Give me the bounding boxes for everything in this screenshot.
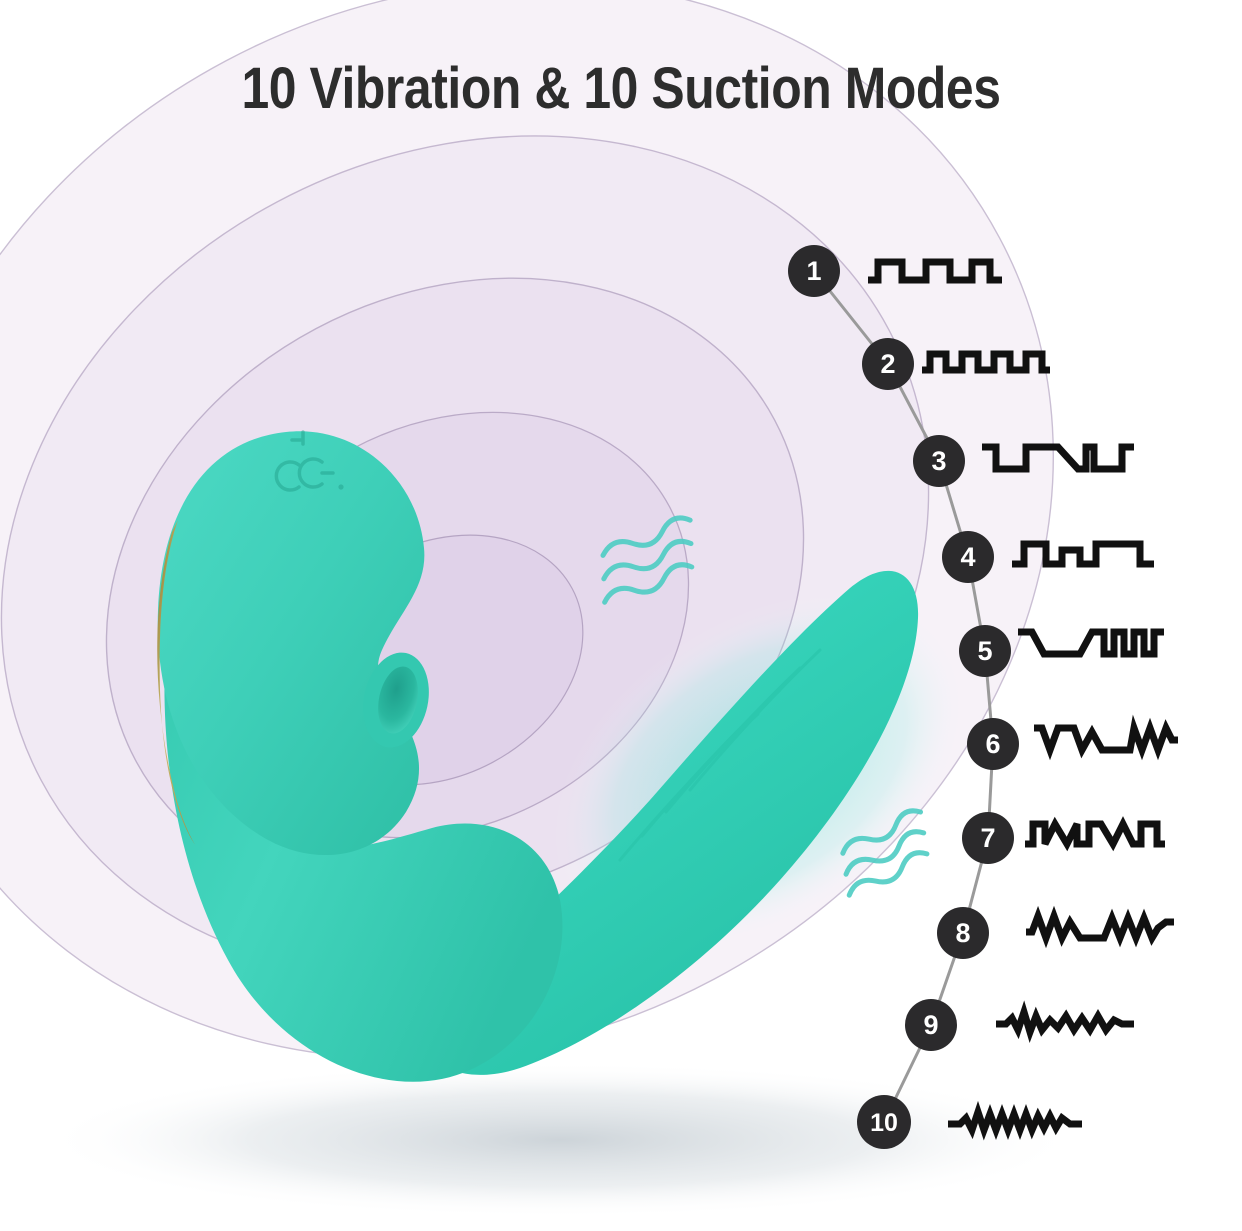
waveform-path [868, 262, 1002, 280]
waveform-path [1034, 728, 1178, 750]
mode-connector-path [814, 271, 993, 1122]
waveform-10 [948, 1112, 1082, 1130]
mode-marker-8[interactable]: 8 [937, 907, 989, 959]
mode-marker-5[interactable]: 5 [959, 625, 1011, 677]
waveform-path [1018, 632, 1164, 654]
waveform-path [996, 1012, 1134, 1032]
page-title: 10 Vibration & 10 Suction Modes [87, 55, 1155, 122]
mode-marker-label: 5 [977, 636, 992, 666]
mode-marker-10[interactable]: 10 [857, 1095, 911, 1149]
waveform-4 [1012, 544, 1154, 564]
mode-marker-label: 9 [923, 1010, 938, 1040]
mode-connector-line [814, 271, 993, 1122]
infographic-canvas: 10 Vibration & 10 Suction Modes 12345678… [0, 0, 1242, 1231]
mode-marker-1[interactable]: 1 [788, 245, 840, 297]
waveform-8 [1026, 916, 1174, 938]
mode-marker-3[interactable]: 3 [913, 435, 965, 487]
mode-marker-label: 2 [880, 349, 895, 379]
waveform-path [982, 447, 1134, 469]
modes-legend: 12345678910 [0, 0, 1242, 1231]
waveform-6 [1034, 728, 1178, 750]
mode-marker-7[interactable]: 7 [962, 812, 1014, 864]
waveform-1 [868, 262, 1002, 280]
waveform-path [1026, 916, 1174, 938]
waveform-3 [982, 447, 1134, 469]
mode-marker-2[interactable]: 2 [862, 338, 914, 390]
waveform-path [922, 354, 1050, 370]
waveform-path [1025, 824, 1165, 844]
mode-marker-6[interactable]: 6 [967, 718, 1019, 770]
mode-marker-label: 8 [955, 918, 970, 948]
waveform-path [948, 1112, 1082, 1130]
mode-marker-label: 6 [985, 729, 1000, 759]
mode-marker-label: 1 [806, 256, 821, 286]
waveform-7 [1025, 824, 1165, 844]
waveform-9 [996, 1012, 1134, 1032]
mode-marker-label: 4 [960, 542, 975, 572]
mode-marker-9[interactable]: 9 [905, 999, 957, 1051]
waveform-5 [1018, 632, 1164, 654]
mode-marker-label: 3 [931, 446, 946, 476]
mode-marker-label: 10 [870, 1109, 898, 1137]
mode-marker-4[interactable]: 4 [942, 531, 994, 583]
mode-marker-label: 7 [980, 823, 995, 853]
waveform-path [1012, 544, 1154, 564]
waveform-2 [922, 354, 1050, 370]
